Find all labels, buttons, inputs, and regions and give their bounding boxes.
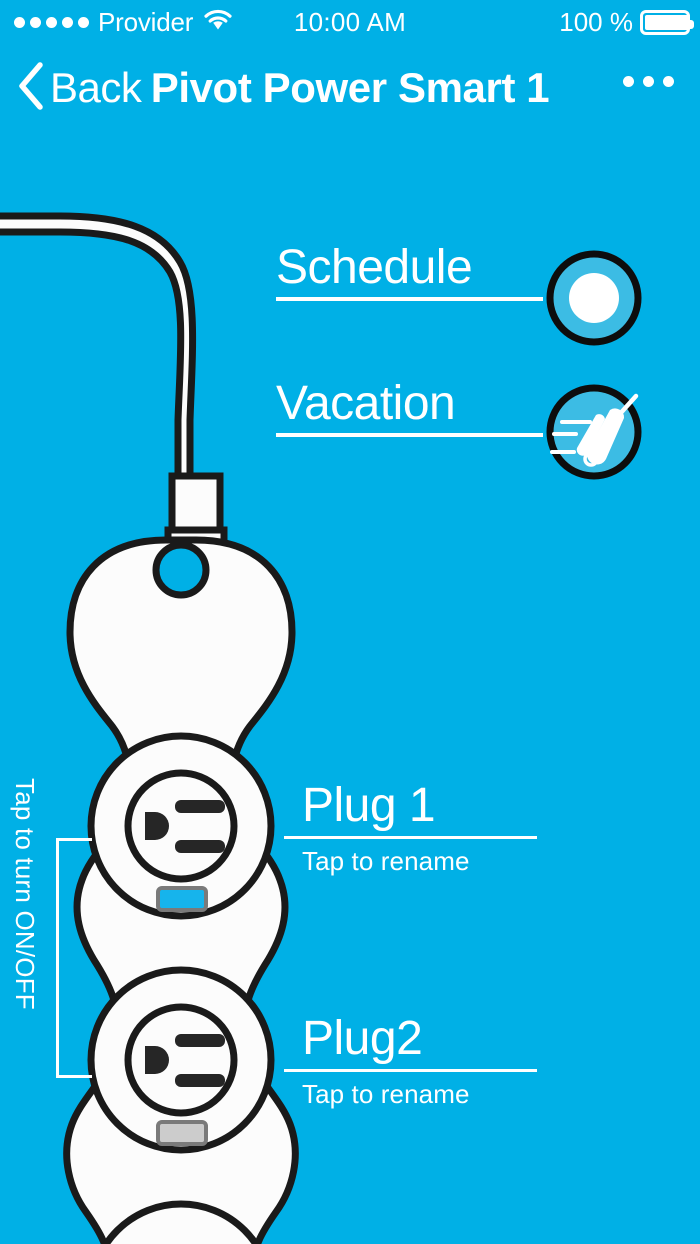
vacation-label[interactable]: Vacation xyxy=(276,380,455,428)
schedule-rule xyxy=(276,297,543,301)
onoff-hint-label: Tap to turn ON/OFF xyxy=(12,778,38,988)
app-screen: Provider 10:00 AM 100 % xyxy=(0,0,700,1244)
socket-2-slot-bottom xyxy=(175,1074,225,1087)
socket-1-ring xyxy=(128,773,234,879)
vacation-rule xyxy=(276,433,543,437)
clock-icon xyxy=(544,248,644,348)
plug-2-rule xyxy=(284,1069,537,1072)
plug-1-indicator xyxy=(158,888,206,910)
socket-2-slot-top xyxy=(175,1034,225,1047)
page-title: Pivot Power Smart 1 xyxy=(0,60,700,116)
power-button-hole xyxy=(156,545,206,595)
onoff-bracket xyxy=(56,838,92,1078)
cord-collar xyxy=(172,476,220,534)
plug-2-name[interactable]: Plug2 xyxy=(302,1015,422,1063)
power-cord xyxy=(0,216,193,478)
status-bar: Provider 10:00 AM 100 % xyxy=(0,0,700,46)
more-horizontal-icon[interactable] xyxy=(623,76,674,87)
plug-2-indicator xyxy=(158,1122,206,1144)
plug-2-rename-hint[interactable]: Tap to rename xyxy=(302,1081,470,1107)
socket-1-slot-top xyxy=(175,800,225,813)
socket-1-slot-bottom xyxy=(175,840,225,853)
schedule-button[interactable] xyxy=(544,248,644,353)
plug-1-rename-hint[interactable]: Tap to rename xyxy=(302,848,470,874)
schedule-label[interactable]: Schedule xyxy=(276,244,472,292)
battery-icon xyxy=(640,10,690,35)
battery-percent-label: 100 % xyxy=(559,9,633,35)
luggage-icon xyxy=(544,382,644,482)
plug-1-name[interactable]: Plug 1 xyxy=(302,782,435,830)
navigation-bar: Back Pivot Power Smart 1 xyxy=(0,46,700,142)
plug-1-rule xyxy=(284,836,537,839)
socket-2-ring xyxy=(128,1007,234,1113)
status-bar-right: 100 % xyxy=(559,5,690,39)
vacation-button[interactable] xyxy=(544,382,644,487)
